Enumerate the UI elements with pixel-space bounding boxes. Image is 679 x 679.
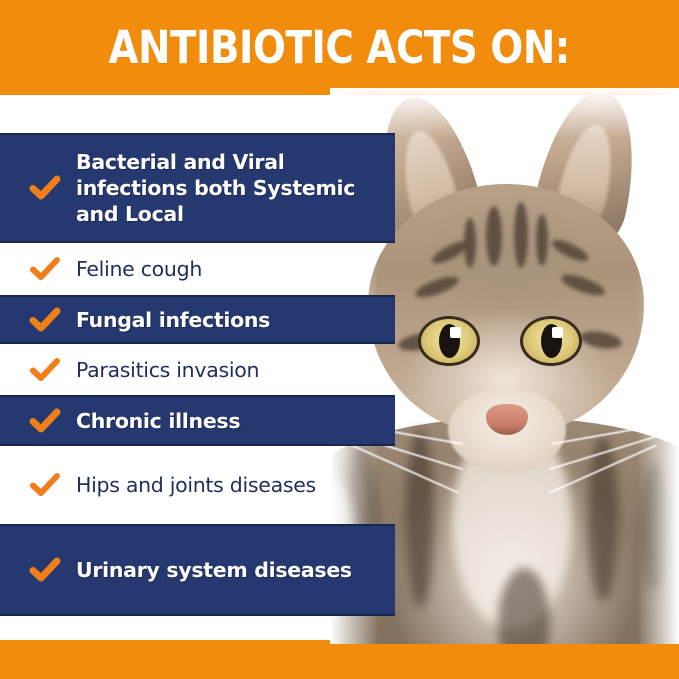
list-item-label: Fungal infections xyxy=(76,307,270,333)
top-orange-band xyxy=(0,0,679,95)
list-item-label: Urinary system diseases xyxy=(76,557,352,583)
list-item: Fungal infections xyxy=(0,295,395,344)
orange-checkmark-icon xyxy=(28,353,62,387)
list-item-label: Parasitics invasion xyxy=(76,357,259,383)
list-item-label: Feline cough xyxy=(76,256,202,282)
benefits-list: Bacterial and Viral infections both Syst… xyxy=(0,133,679,616)
list-item-label: Chronic illness xyxy=(76,408,240,434)
orange-checkmark-icon xyxy=(28,252,62,286)
list-item: Hips and joints diseases xyxy=(0,446,679,524)
poster: ANTIBIOTIC ACTS ON: Bacterial and Viral … xyxy=(0,0,679,679)
orange-checkmark-icon xyxy=(28,468,62,502)
orange-checkmark-icon xyxy=(28,303,62,337)
list-item: Urinary system diseases xyxy=(0,524,395,616)
list-item: Bacterial and Viral infections both Syst… xyxy=(0,133,395,243)
orange-checkmark-icon xyxy=(28,404,62,438)
list-item: Feline cough xyxy=(0,243,679,295)
list-item: Parasitics invasion xyxy=(0,344,679,395)
bottom-orange-band xyxy=(0,640,679,679)
orange-checkmark-icon xyxy=(28,171,62,205)
list-item-label: Bacterial and Viral infections both Syst… xyxy=(76,149,395,227)
list-item: Chronic illness xyxy=(0,395,395,446)
list-item-label: Hips and joints diseases xyxy=(76,472,316,498)
orange-checkmark-icon xyxy=(28,553,62,587)
